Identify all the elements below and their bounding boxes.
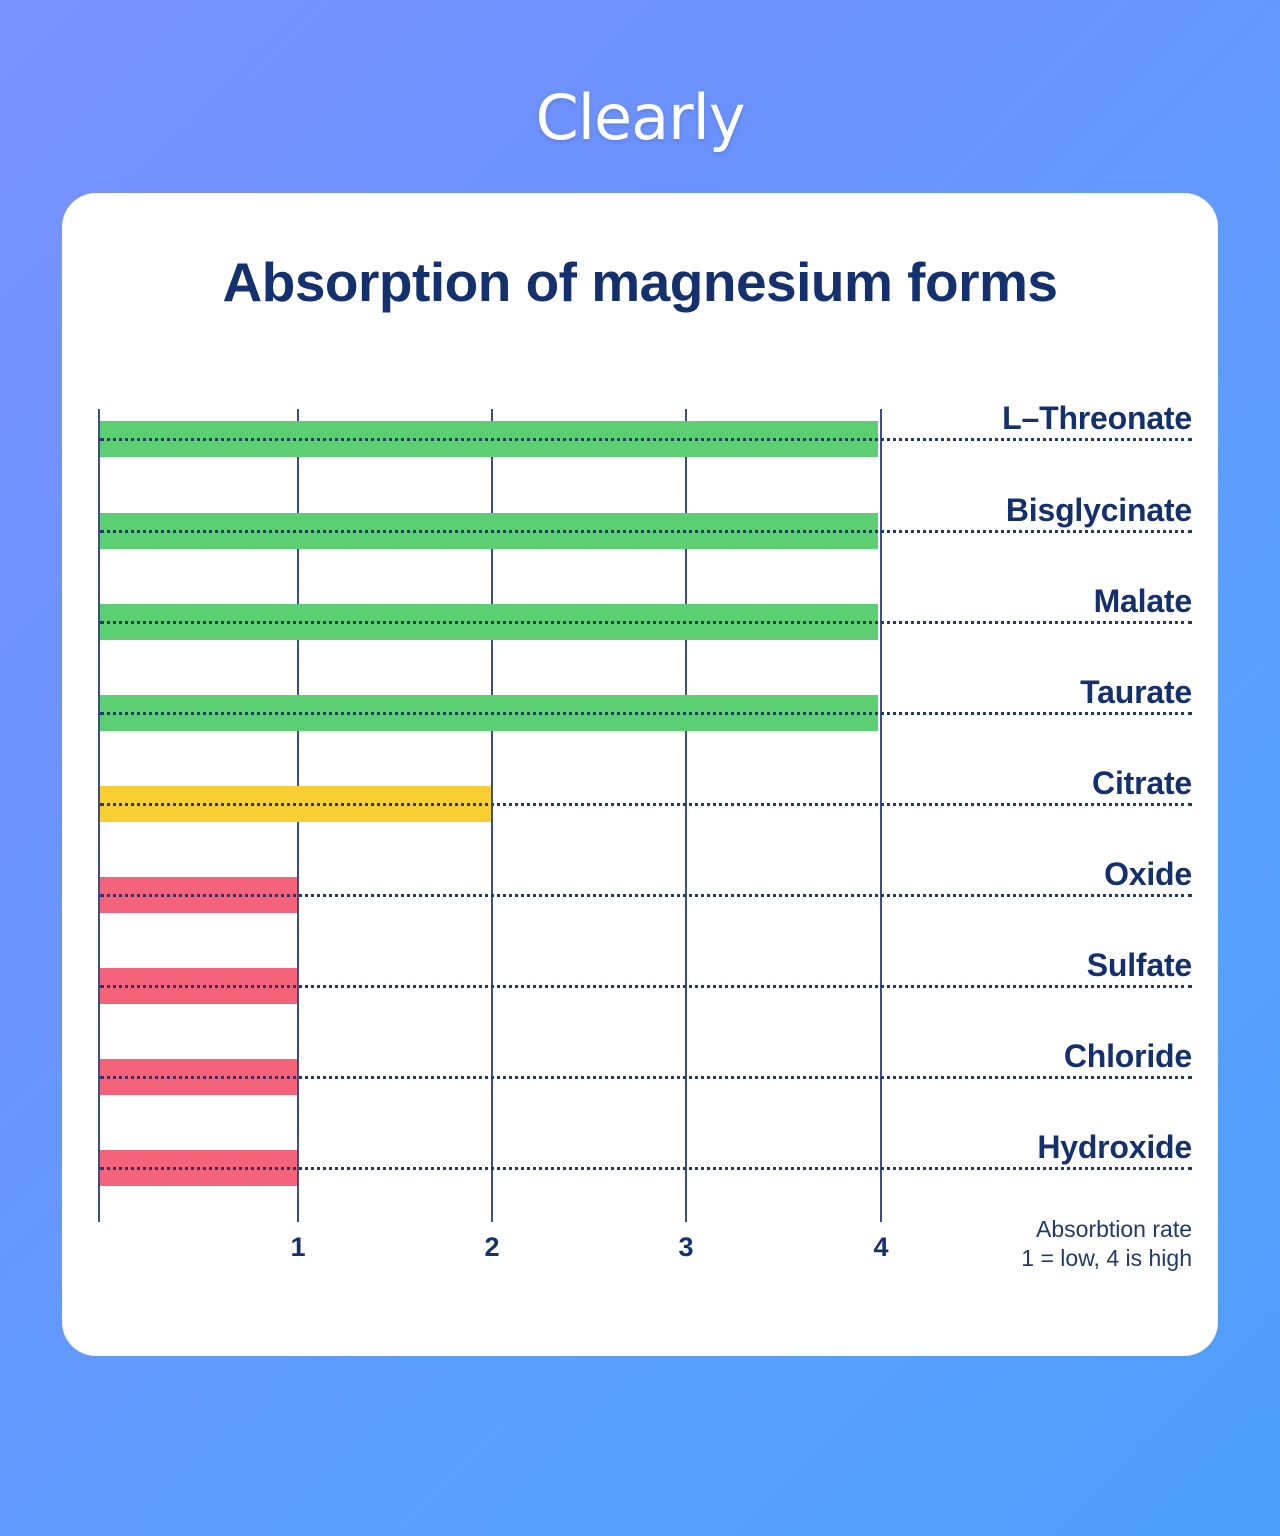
table-row: Citrate [98,786,1192,822]
row-connector-line [100,712,1192,715]
table-row: Hydroxide [98,1150,1192,1186]
bar-label-oxide: Oxide [1104,856,1192,893]
table-row: L–Threonate [98,421,1192,457]
axis-caption-line-1: Absorbtion rate [892,1215,1192,1244]
row-connector-line [100,1167,1192,1170]
table-row: Bisglycinate [98,513,1192,549]
table-row: Sulfate [98,968,1192,1004]
page-title: Absorption of magnesium forms [62,250,1218,314]
brand-wordmark: Clearly [535,78,744,158]
row-connector-line [100,621,1192,624]
row-connector-line [100,530,1192,533]
bar-label-bisglycinate: Bisglycinate [1006,492,1192,529]
table-row: Oxide [98,877,1192,913]
chart-plot-area: L–Threonate Bisglycinate Malate Taurate … [98,409,1192,1419]
x-tick-1: 1 [268,1232,328,1263]
bar-label-chloride: Chloride [1064,1038,1192,1075]
row-connector-line [100,1076,1192,1079]
row-connector-line [100,438,1192,441]
table-row: Malate [98,604,1192,640]
table-row: Chloride [98,1059,1192,1095]
row-connector-line [100,803,1192,806]
bar-label-taurate: Taurate [1080,674,1192,711]
chart-card: Absorption of magnesium forms L–Threonat… [62,193,1218,1356]
bar-label-citrate: Citrate [1092,765,1192,802]
bar-label-hydroxide: Hydroxide [1037,1129,1192,1166]
brand-logo: Clearly [0,78,1280,158]
row-connector-line [100,985,1192,988]
x-tick-2: 2 [462,1232,522,1263]
x-tick-3: 3 [656,1232,716,1263]
bar-label-malate: Malate [1094,583,1192,620]
bar-label-sulfate: Sulfate [1087,947,1192,984]
table-row: Taurate [98,695,1192,731]
axis-caption: Absorbtion rate 1 = low, 4 is high [892,1215,1192,1272]
row-connector-line [100,894,1192,897]
bar-label-l-threonate: L–Threonate [1002,400,1192,437]
axis-caption-line-2: 1 = low, 4 is high [892,1244,1192,1273]
